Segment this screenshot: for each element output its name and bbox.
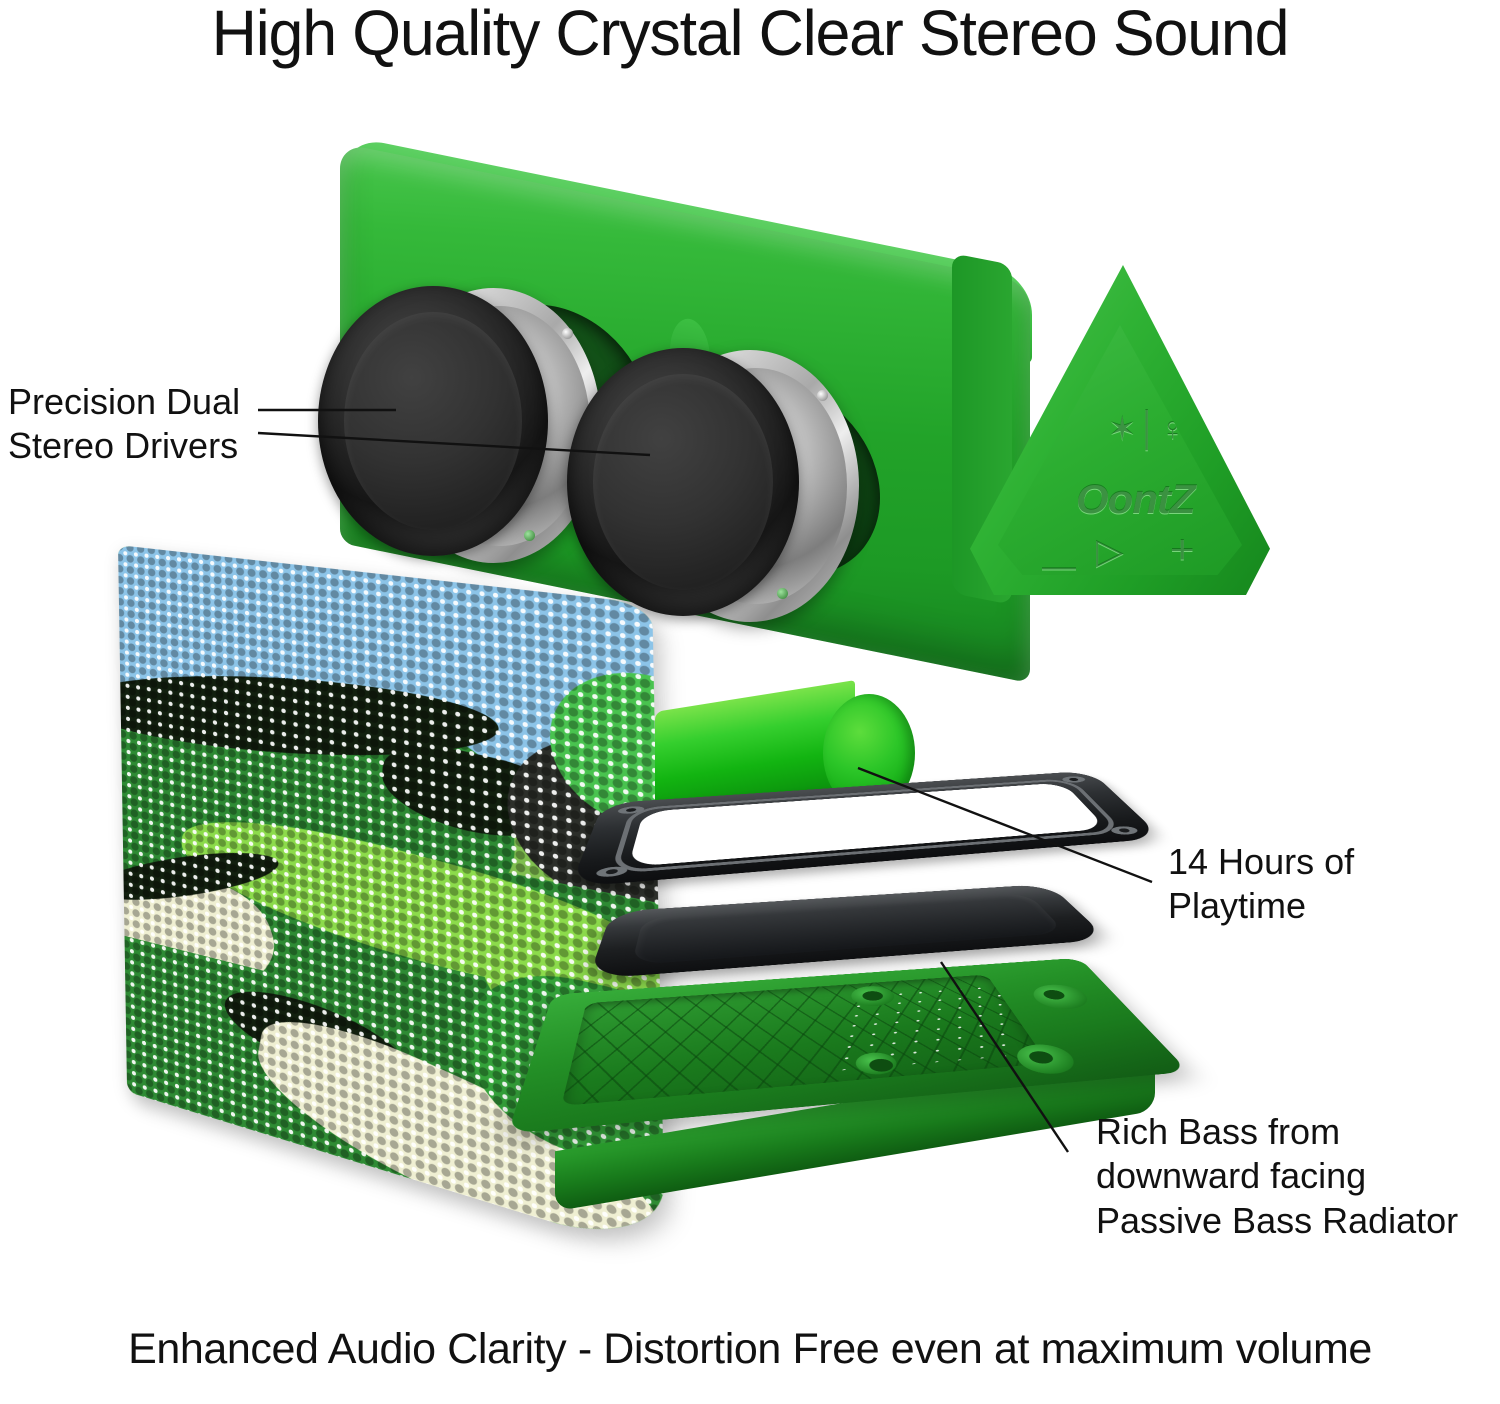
callout-rich-bass-passive-radiator: Rich Bass from downward facing Passive B… [1096,1110,1458,1243]
housing-cavity [561,975,1048,1106]
housing-screw-boss [1026,983,1095,1011]
page-footer-caption: Enhanced Audio Clarity - Distortion Free… [0,1325,1500,1374]
speaker-bottom-housing [545,905,1185,1205]
callout-14-hours-playtime: 14 Hours of Playtime [1168,840,1354,929]
driver-screw [524,530,535,541]
driver-cone-left [344,312,522,530]
housing-screw-boss [1010,1043,1083,1077]
callout-line: Passive Bass Radiator [1096,1199,1458,1243]
callout-line: Stereo Drivers [8,424,240,468]
speaker-end-cap: ✶│♀ OontZ ▷ + — [970,265,1270,595]
volume-up-button-icon[interactable]: + [1170,525,1195,573]
brand-logo: OontZ [1076,475,1195,523]
callout-line: 14 Hours of [1168,840,1354,884]
driver-cone-right [593,374,773,590]
play-button-icon[interactable]: ▷ [1096,530,1124,572]
driver-screw [817,390,828,401]
callout-line: downward facing [1096,1154,1458,1198]
callout-line: Playtime [1168,884,1354,928]
driver-screw [777,588,788,599]
gasket-bolt-hole [1108,826,1141,836]
page-title: High Quality Crystal Clear Stereo Sound [15,0,1485,70]
callout-precision-dual-stereo-drivers: Precision Dual Stereo Drivers [8,380,240,469]
infographic-canvas: ✶│♀ OontZ ▷ + — [0,0,1500,1404]
callout-line: Precision Dual [8,380,240,424]
callout-line: Rich Bass from [1096,1110,1458,1154]
